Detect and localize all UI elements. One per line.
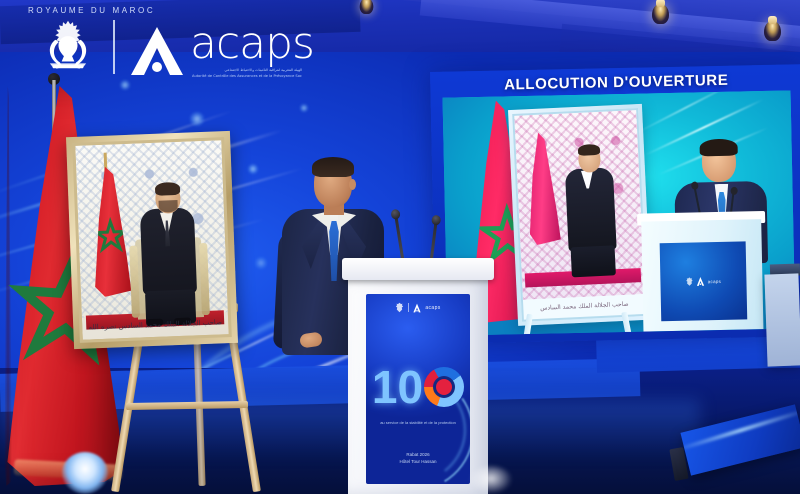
podium: acaps 10 au service de la stabilité et d… bbox=[344, 258, 492, 494]
ceiling-spotlight-icon bbox=[764, 21, 781, 41]
projected-portrait-canvas: صاحب الجلالة الملك محمد السادس bbox=[512, 108, 648, 322]
acaps-subtitle: الهيئة المغربية لمراقبة التأمينات والاحت… bbox=[192, 68, 302, 80]
acaps-subtitle-french: Autorité de Contrôle des Assurances et d… bbox=[192, 74, 302, 80]
ceiling-spotlight-icon bbox=[652, 4, 669, 24]
light-streak bbox=[636, 90, 735, 133]
ceiling-spotlight-icon bbox=[360, 0, 374, 14]
podium-display-logo: acaps bbox=[366, 301, 470, 314]
logo-divider bbox=[113, 20, 115, 74]
kingdom-label: ROYAUME DU MAROC bbox=[28, 6, 155, 15]
bokeh-dot bbox=[300, 104, 308, 112]
speaker-ear bbox=[349, 179, 356, 190]
stage-monitor bbox=[764, 273, 800, 366]
speaker-hair bbox=[312, 157, 354, 177]
easel-crossbar bbox=[126, 401, 248, 410]
anniversary-ring bbox=[424, 367, 464, 407]
royal-portrait-frame: صاحب الجلالة الملك محمد السادس نصره الله bbox=[66, 131, 238, 349]
royal-portrait-caption: صاحب الجلالة الملك محمد السادس نصره الله bbox=[82, 312, 229, 338]
bokeh-dot bbox=[248, 164, 258, 174]
conference-stage-photo: ALLOCUTION D'OUVERTURE bbox=[0, 0, 800, 494]
anniversary-logo: 10 bbox=[366, 356, 470, 418]
podium-display-wordmark: acaps bbox=[425, 305, 440, 311]
wall-logo-lockup: ROYAUME DU MAROC acaps الهيئة المغربية ل… bbox=[18, 6, 288, 82]
projected-royal-portrait-frame: صاحب الجلالة الملك محمد السادس bbox=[508, 104, 652, 326]
projection-screen-content: صاحب الجلالة الملك محمد السادس bbox=[443, 90, 796, 335]
acaps-triangle-icon bbox=[697, 276, 705, 286]
morocco-coat-of-arms-icon bbox=[395, 302, 404, 313]
acaps-triangle-icon bbox=[413, 303, 421, 313]
logo-divider bbox=[408, 303, 409, 312]
podium-display: acaps 10 au service de la stabilité et d… bbox=[366, 294, 470, 484]
royal-portrait-canvas: صاحب الجلالة الملك محمد السادس نصره الله bbox=[72, 137, 232, 343]
portrait-figure-hair bbox=[578, 144, 600, 156]
stage-floor-light bbox=[62, 452, 108, 494]
portrait-figure-legs bbox=[571, 245, 616, 277]
portrait-figure-hair bbox=[155, 182, 180, 196]
anniversary-subtitle: au service de la stabilité et de la prot… bbox=[374, 420, 462, 426]
stage-floor-light bbox=[470, 466, 512, 494]
event-venue: Hôtel Tour Hassan bbox=[372, 458, 464, 466]
acaps-triangle-icon bbox=[130, 26, 184, 76]
anniversary-number: 10 bbox=[372, 364, 423, 410]
anniversary-badge bbox=[436, 379, 452, 395]
projected-speaker-hair bbox=[699, 139, 737, 157]
event-city-year: Rabat 2026 bbox=[372, 451, 464, 459]
morocco-coat-of-arms-icon bbox=[40, 18, 96, 76]
bokeh-dot bbox=[190, 112, 204, 126]
bokeh-dot bbox=[255, 257, 267, 269]
projected-podium-wordmark: acaps bbox=[708, 278, 722, 283]
podium-display-footer: Rabat 2026 Hôtel Tour Hassan bbox=[372, 451, 464, 466]
projected-podium-screen: acaps bbox=[660, 241, 748, 321]
podium-lectern-top bbox=[342, 258, 494, 280]
morocco-coat-of-arms-icon bbox=[686, 277, 694, 287]
acaps-wordmark: acaps bbox=[190, 22, 314, 66]
